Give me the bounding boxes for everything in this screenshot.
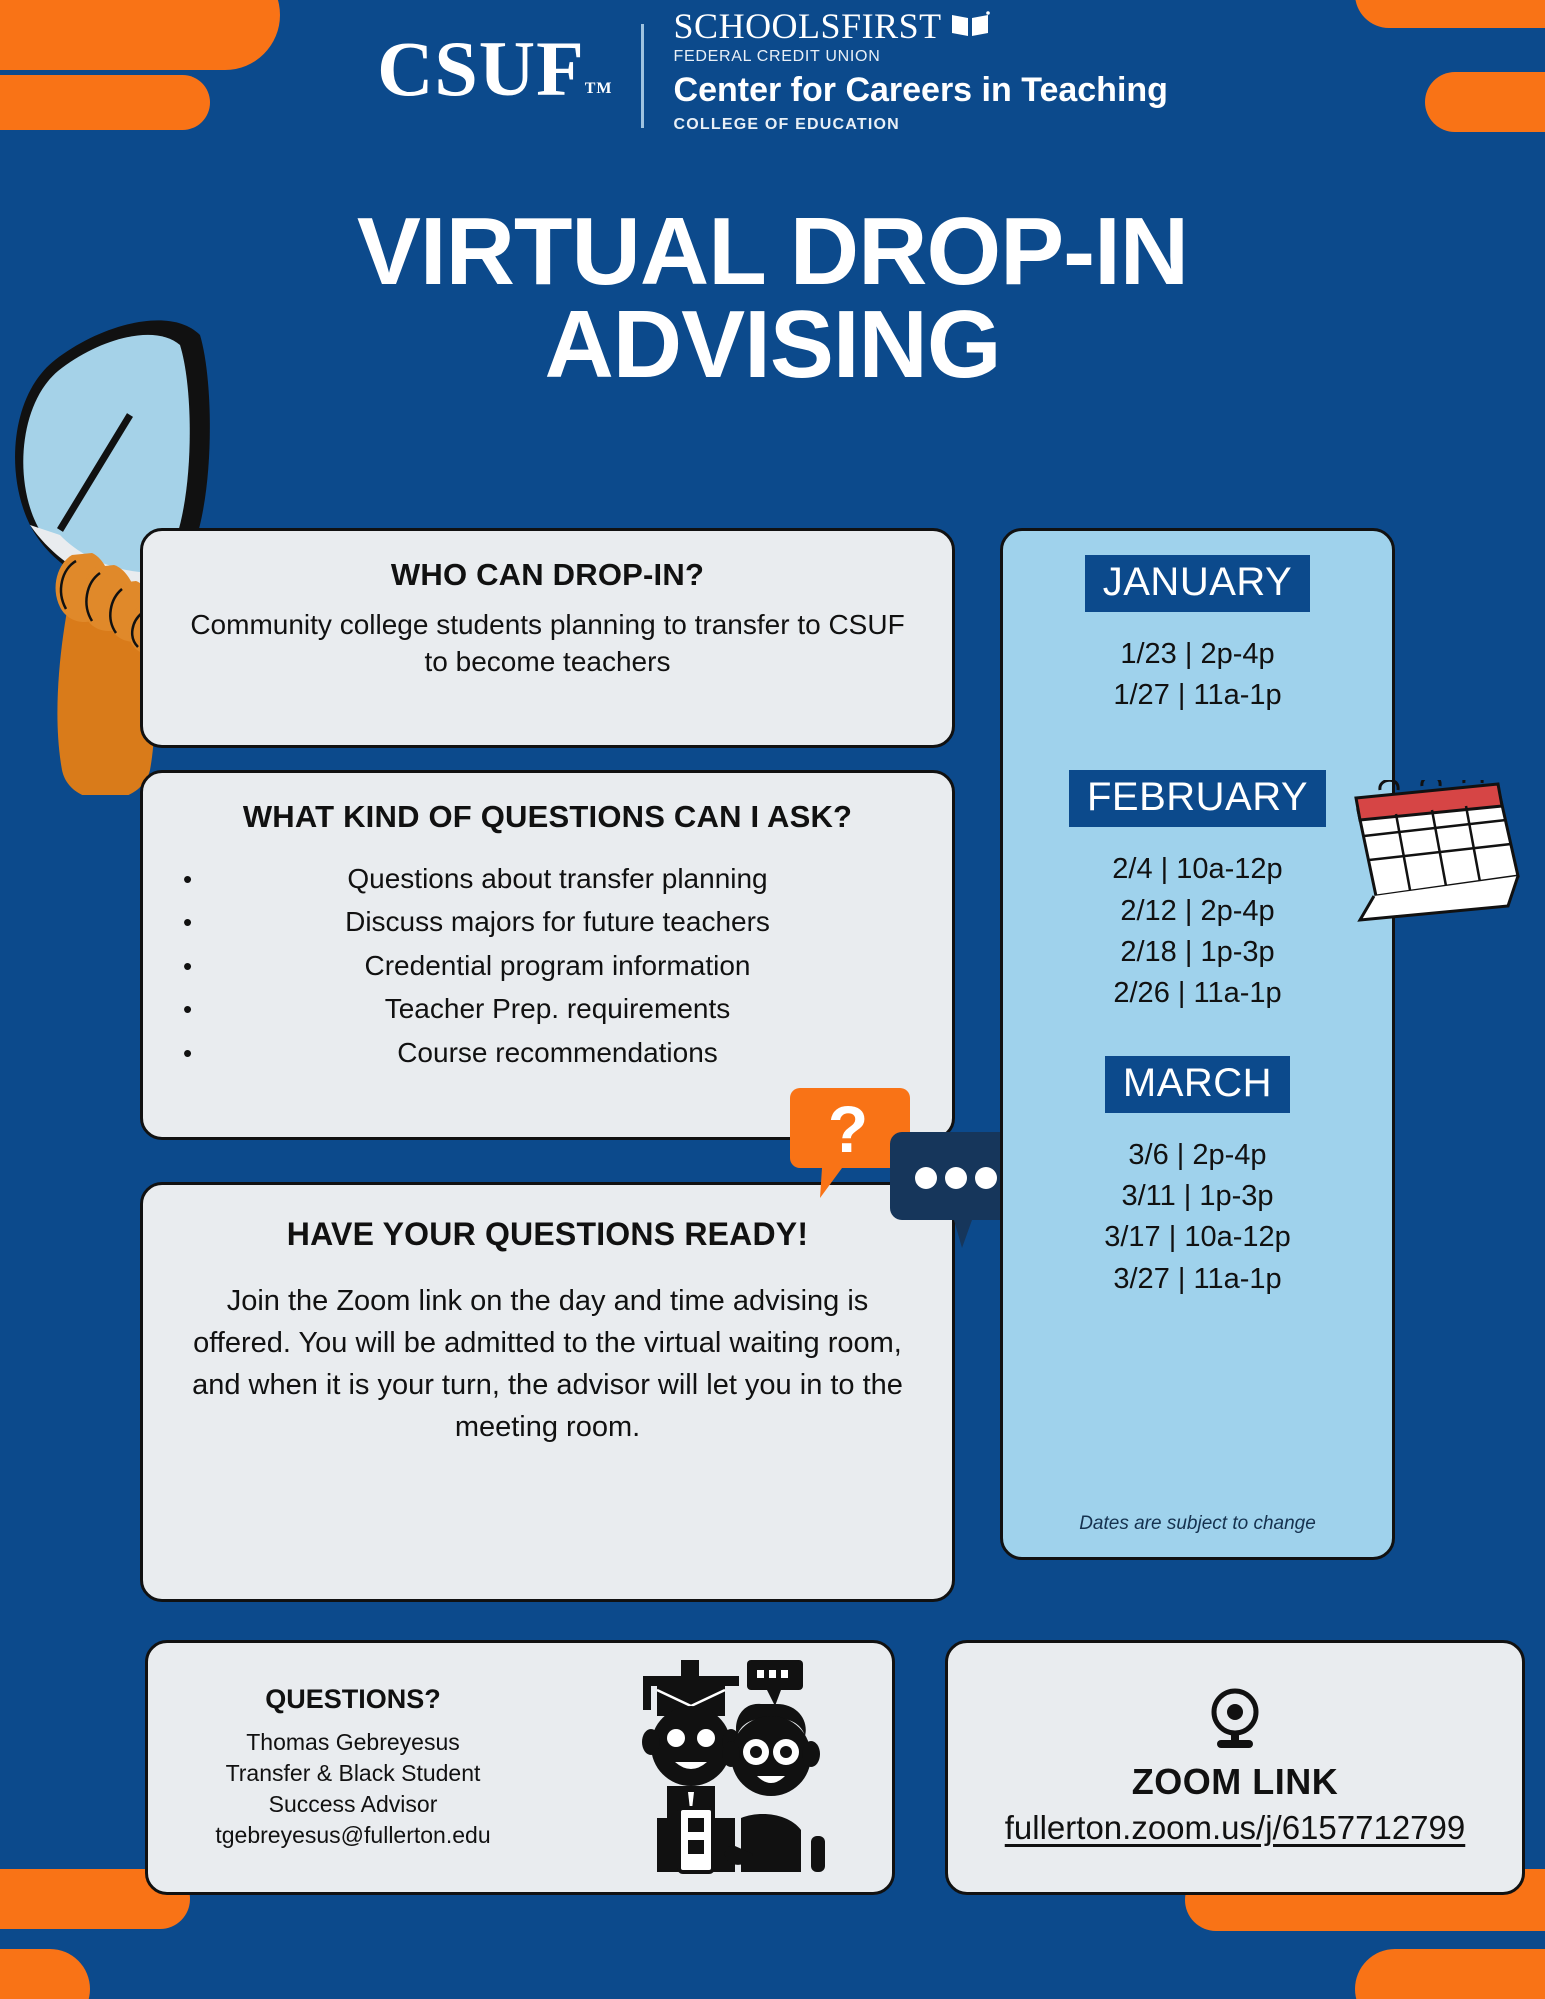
session-entry: 3/27 | 11a-1p xyxy=(1021,1259,1374,1300)
who-card-title: WHO CAN DROP-IN? xyxy=(177,557,918,593)
trademark-mark: TM xyxy=(585,80,613,97)
desk-calendar-icon xyxy=(1350,780,1540,930)
header-logo-lockup: CSUFTM SCHOOLSFIRST FEDERAL CREDIT xyxy=(0,8,1545,134)
poster-root: CSUFTM SCHOOLSFIRST FEDERAL CREDIT xyxy=(0,0,1545,1999)
question-types-list: •Questions about transfer planning •Disc… xyxy=(183,857,912,1074)
session-entry: 2/4 | 10a-12p xyxy=(1021,849,1374,890)
february-session-list: 2/4 | 10a-12p 2/12 | 2p-4p 2/18 | 1p-3p … xyxy=(1021,849,1374,1014)
decor-shape-bottom-right-2 xyxy=(1355,1949,1545,1999)
list-item-label: Credential program information xyxy=(273,944,912,987)
session-entry: 3/17 | 10a-12p xyxy=(1021,1217,1374,1258)
college-text: COLLEGE OF EDUCATION xyxy=(674,116,1168,134)
list-item: •Discuss majors for future teachers xyxy=(183,900,912,943)
schoolsfirst-wordmark: SCHOOLSFIRST xyxy=(674,8,1168,46)
month-label-march: MARCH xyxy=(1105,1056,1290,1113)
csuf-text: CSUF xyxy=(377,25,585,112)
bullet-dot-icon: • xyxy=(183,1033,273,1073)
list-item: •Teacher Prep. requirements xyxy=(183,987,912,1030)
list-item-label: Discuss majors for future teachers xyxy=(273,900,912,943)
questions-contact-card: QUESTIONS? Thomas Gebreyesus Transfer & … xyxy=(145,1640,895,1895)
session-entry: 2/26 | 11a-1p xyxy=(1021,973,1374,1014)
students-illustration-icon xyxy=(548,1660,892,1875)
list-item: •Questions about transfer planning xyxy=(183,857,912,900)
march-session-list: 3/6 | 2p-4p 3/11 | 1p-3p 3/17 | 10a-12p … xyxy=(1021,1135,1374,1300)
list-item: •Credential program information xyxy=(183,944,912,987)
bullet-dot-icon: • xyxy=(183,859,273,899)
bullet-dot-icon: • xyxy=(183,902,273,942)
zoom-meeting-link[interactable]: fullerton.zoom.us/j/6157712799 xyxy=(1005,1809,1466,1847)
center-name-text: Center for Careers in Teaching xyxy=(674,72,1168,109)
month-label-february: FEBRUARY xyxy=(1069,770,1326,827)
ready-card-body: Join the Zoom link on the day and time a… xyxy=(189,1280,906,1448)
who-can-drop-in-card: WHO CAN DROP-IN? Community college stude… xyxy=(140,528,955,748)
open-book-icon xyxy=(950,8,990,46)
advisor-role-line-2: Success Advisor xyxy=(158,1789,548,1820)
session-entry: 3/11 | 1p-3p xyxy=(1021,1176,1374,1217)
decor-shape-bottom-left-2 xyxy=(0,1949,90,1999)
zoom-card-title: ZOOM LINK xyxy=(1132,1761,1338,1803)
list-item-label: Teacher Prep. requirements xyxy=(273,987,912,1030)
bullet-dot-icon: • xyxy=(183,946,273,986)
list-item-label: Course recommendations xyxy=(273,1031,912,1074)
session-entry: 3/6 | 2p-4p xyxy=(1021,1135,1374,1176)
who-card-body: Community college students planning to t… xyxy=(177,607,918,681)
questions-card-title: QUESTIONS? xyxy=(158,1684,548,1715)
month-label-january: JANUARY xyxy=(1085,555,1310,612)
advisor-name: Thomas Gebreyesus xyxy=(158,1727,548,1758)
list-item-label: Questions about transfer planning xyxy=(273,857,912,900)
session-entry: 2/18 | 1p-3p xyxy=(1021,932,1374,973)
schedule-disclaimer: Dates are subject to change xyxy=(1003,1513,1392,1535)
month-block-february: FEBRUARY 2/4 | 10a-12p 2/12 | 2p-4p 2/18… xyxy=(1021,770,1374,1014)
csuf-wordmark: CSUFTM xyxy=(377,8,640,134)
federal-credit-union-text: FEDERAL CREDIT UNION xyxy=(674,48,1168,66)
session-entry: 1/23 | 2p-4p xyxy=(1021,634,1374,675)
list-item: •Course recommendations xyxy=(183,1031,912,1074)
zoom-link-card[interactable]: ZOOM LINK fullerton.zoom.us/j/6157712799 xyxy=(945,1640,1525,1895)
svg-text:?: ? xyxy=(828,1092,868,1166)
session-entry: 1/27 | 11a-1p xyxy=(1021,675,1374,716)
month-block-march: MARCH 3/6 | 2p-4p 3/11 | 1p-3p 3/17 | 10… xyxy=(1021,1056,1374,1300)
webcam-icon xyxy=(1205,1688,1265,1755)
session-entry: 2/12 | 2p-4p xyxy=(1021,891,1374,932)
schedule-panel: JANUARY 1/23 | 2p-4p 1/27 | 11a-1p FEBRU… xyxy=(1000,528,1395,1560)
bullet-dot-icon: • xyxy=(183,989,273,1029)
advisor-email[interactable]: tgebreyesus@fullerton.edu xyxy=(158,1820,548,1851)
advisor-role-line-1: Transfer & Black Student xyxy=(158,1758,548,1789)
month-block-january: JANUARY 1/23 | 2p-4p 1/27 | 11a-1p xyxy=(1021,555,1374,716)
page-title-line-1: VIRTUAL DROP-IN xyxy=(0,205,1545,298)
january-session-list: 1/23 | 2p-4p 1/27 | 11a-1p xyxy=(1021,634,1374,716)
question-speech-bubble-icon: ? xyxy=(790,1080,1020,1260)
what-card-title: WHAT KIND OF QUESTIONS CAN I ASK? xyxy=(183,799,912,835)
schoolsfirst-text: SCHOOLSFIRST xyxy=(674,8,942,46)
